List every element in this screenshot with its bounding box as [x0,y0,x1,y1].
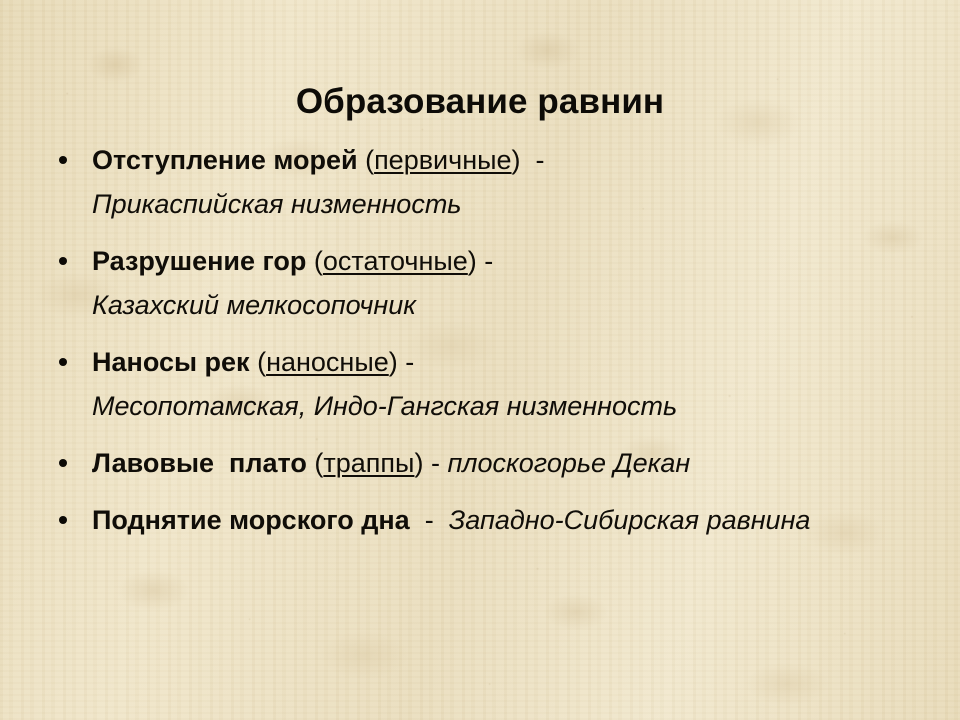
bullet-open-paren: ( [306,246,323,276]
bullet-type-word: наносные [266,347,389,377]
bullet-term: Отступление морей [92,145,358,175]
bullet-dash: - [398,347,415,377]
list-item: Поднятие морского дна - Западно-Сибирска… [45,498,925,542]
bullet-dash: - [521,145,545,175]
bullet-type-word: траппы [323,448,414,478]
slide-canvas: Образование равнин Отступление морей (пе… [0,0,960,720]
bullet-close-paren: ) [468,246,477,276]
bullet-dash: - [477,246,494,276]
bullet-term: Лавовые плато [92,448,307,478]
list-item: Отступление морей (первичные) -Прикаспий… [45,138,925,226]
bullet-dot-icon [59,156,67,164]
list-item: Лавовые плато (траппы) - плоскогорье Дек… [45,441,925,485]
bullet-term: Поднятие морского дна [92,505,410,535]
bullet-example: Месопотамская, Индо-Гангская низменность [92,391,677,421]
bullet-example: Прикаспийская низменность [92,189,462,219]
bullet-type-word: остаточные [323,246,468,276]
bullet-dash: - [410,505,449,535]
list-item: Наносы рек (наносные) -Месопотамская, Ин… [45,340,925,428]
bullet-example: плоскогорье Декан [447,448,690,478]
bullet-term: Разрушение гор [92,246,306,276]
bullet-dot-icon [59,459,67,467]
bullet-example: Казахский мелкосопочник [92,290,416,320]
bullet-open-paren: ( [307,448,324,478]
bullet-dot-icon [59,358,67,366]
bullet-close-paren: ) [512,145,521,175]
bullet-dash: - [423,448,447,478]
bullet-list: Отступление морей (первичные) -Прикаспий… [45,138,925,542]
bullet-term: Наносы рек [92,347,250,377]
bullet-open-paren: ( [358,145,375,175]
list-item: Разрушение гор (остаточные) -Казахский м… [45,239,925,327]
bullet-dot-icon [59,257,67,265]
bullet-type-word: первичные [374,145,511,175]
bullet-dot-icon [59,516,67,524]
bullet-open-paren: ( [250,347,267,377]
bullet-example: Западно-Сибирская равнина [449,505,811,535]
bullet-close-paren: ) [389,347,398,377]
page-title: Образование равнин [0,84,960,121]
